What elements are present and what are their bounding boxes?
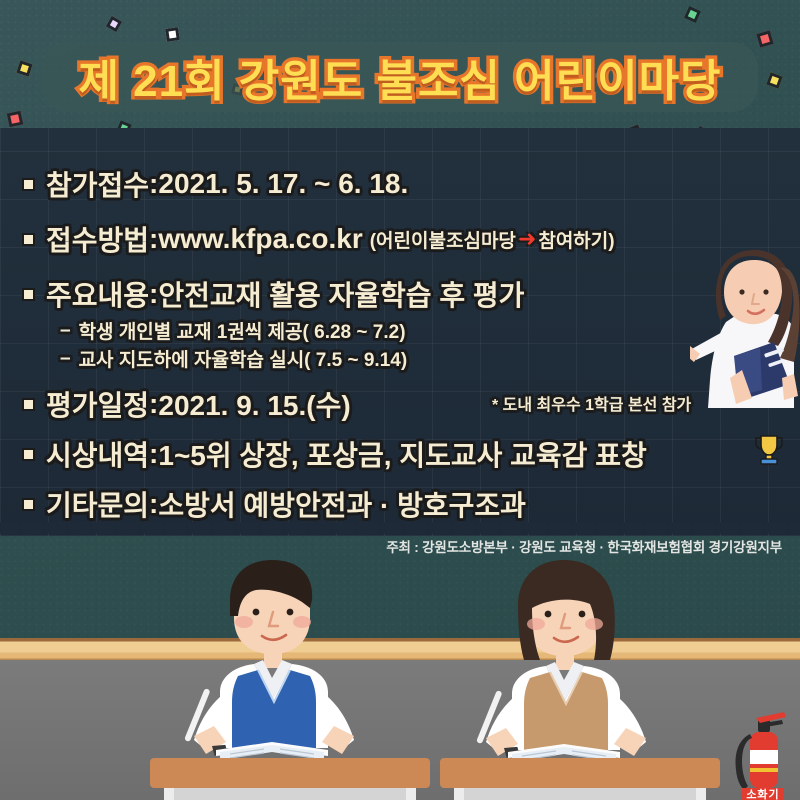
scallop-notch	[644, 522, 666, 535]
item-label: 시상내역	[46, 434, 149, 474]
dash-marker: –	[60, 348, 71, 370]
item-awards: 시상내역 : 1~5위 상장, 포상금, 지도교사 교육감 표창	[22, 434, 647, 474]
item-separator: :	[149, 278, 158, 310]
item-separator: :	[149, 388, 158, 420]
student-boy	[150, 560, 430, 800]
poster-root: 제 21회 강원도 불조심 어린이마당	[0, 0, 800, 800]
item-separator: :	[149, 223, 158, 255]
scallop-notch	[668, 522, 690, 535]
note-text: * 도내 최우수 1학급 본선 참가	[492, 391, 691, 415]
page-title: 제 21회 강원도 불조심 어린이마당	[42, 42, 758, 112]
item-value: 2021. 5. 17. ~ 6. 18.	[158, 168, 408, 200]
bullet-square	[22, 288, 35, 301]
item-label: 접수방법	[46, 219, 149, 259]
item-other-inquiries: 기타문의 : 소방서 예방안전과 · 방호구조과	[22, 484, 526, 524]
scallop-notch	[716, 522, 738, 535]
evaluation-note: * 도내 최우수 1학급 본선 참가	[492, 391, 691, 415]
item-registration-period: 참가접수 : 2021. 5. 17. ~ 6. 18.	[22, 164, 408, 204]
confetti-square	[7, 111, 24, 128]
scallop-notch	[620, 522, 642, 535]
item-separator: :	[149, 438, 158, 470]
subitem-text: 교사 지도하에 자율학습 실시( 7.5 ~ 9.14)	[79, 345, 408, 372]
bullet-square	[22, 398, 35, 411]
item-label: 평가일정	[46, 384, 149, 424]
item-label: 주요내용	[46, 274, 149, 314]
scallop-notch	[740, 522, 762, 535]
subitem-textbook-supply: – 학생 개인별 교재 1권씩 제공( 6.28 ~ 7.2)	[60, 317, 406, 344]
scallop-notch	[524, 522, 546, 535]
scallop-notch	[692, 522, 714, 535]
paren-close-text: 참여하기)	[538, 226, 614, 253]
item-value: 소방서 예방안전과 · 방호구조과	[158, 484, 526, 524]
dash-marker: –	[60, 320, 71, 342]
item-value: 2021. 9. 15.(수)	[158, 384, 350, 424]
arrow-right-icon: ➜	[516, 226, 538, 252]
host-organizations: 주최 : 강원도소방본부 · 강원도 교육청 · 한국화재보험협회 경기강원지부	[386, 536, 782, 556]
item-registration-method: 접수방법 : www.kfpa.co.kr (어린이불조심마당 ➜ 참여하기)	[22, 219, 615, 259]
confetti-square	[165, 27, 180, 42]
subitem-text: 학생 개인별 교재 1권씩 제공( 6.28 ~ 7.2)	[79, 317, 406, 344]
scallop-notch	[548, 522, 570, 535]
item-value: 1~5위 상장, 포상금, 지도교사 교육감 표창	[158, 434, 646, 474]
item-evaluation-date: 평가일정 : 2021. 9. 15.(수)	[22, 384, 351, 424]
teacher-figure	[690, 238, 800, 408]
subitem-self-study: – 교사 지도하에 자율학습 실시( 7.5 ~ 9.14)	[60, 345, 407, 372]
item-value: 안전교재 활용 자율학습 후 평가	[158, 274, 524, 314]
paren-open-text: (어린이불조심마당	[370, 226, 516, 253]
scallop-notch	[596, 522, 618, 535]
scallop-notch	[572, 522, 594, 535]
item-main-content: 주요내용 : 안전교재 활용 자율학습 후 평가	[22, 274, 524, 314]
registration-url[interactable]: www.kfpa.co.kr	[158, 223, 362, 255]
trophy-icon	[752, 432, 786, 466]
bullet-square	[22, 498, 35, 511]
scallop-notch	[764, 522, 786, 535]
bullet-square	[22, 178, 35, 191]
item-separator: :	[149, 488, 158, 520]
fire-extinguisher-label: 소화기	[726, 786, 800, 800]
item-separator: :	[149, 168, 158, 200]
item-label: 기타문의	[46, 484, 149, 524]
bullet-square	[22, 233, 35, 246]
student-girl	[440, 560, 720, 800]
bullet-square	[22, 448, 35, 461]
item-label: 참가접수	[46, 164, 149, 204]
